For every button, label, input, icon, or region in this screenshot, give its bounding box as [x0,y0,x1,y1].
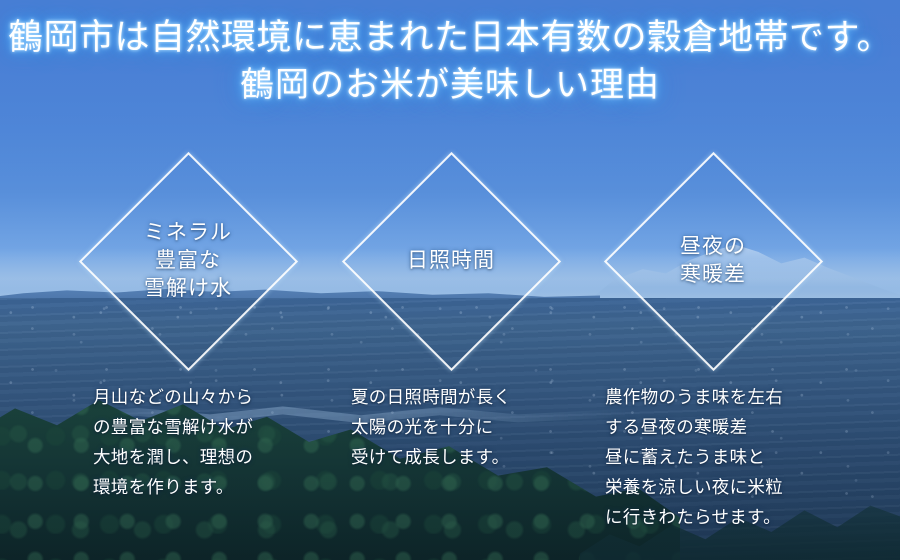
diamond-badge-sunshine: 日照時間 [345,152,557,370]
diamond-badge-temp-gap: 昼夜の 寒暖差 [605,152,821,370]
page-title: 鶴岡市は自然環境に恵まれた日本有数の穀倉地帯です。 [0,0,900,57]
description-column-minerals: 月山などの山々から の豊富な雪解け水が 大地を潤し、理想の 環境を作ります。 [93,382,343,502]
diamond-label-minerals: ミネラル 豊富な 雪解け水 [144,219,232,302]
diamond-label-sunshine: 日照時間 [407,247,495,275]
description-column-temp-gap: 農作物のうま味を左右 する昼夜の寒暖差 昼に蓄えたうま味と 栄養を涼しい夜に米粒… [605,382,875,532]
page-subtitle: 鶴岡のお米が美味しい理由 [0,57,900,104]
diamond-badge-minerals: ミネラル 豊富な 雪解け水 [78,152,298,370]
description-column-sunshine: 夏の日照時間が長く 太陽の光を十分に 受けて成長します。 [351,382,601,472]
infographic-canvas: 鶴岡市は自然環境に恵まれた日本有数の穀倉地帯です。 鶴岡のお米が美味しい理由 ミ… [0,0,900,560]
diamond-label-temp-gap: 昼夜の 寒暖差 [680,233,746,288]
heading-block: 鶴岡市は自然環境に恵まれた日本有数の穀倉地帯です。 鶴岡のお米が美味しい理由 [0,0,900,105]
